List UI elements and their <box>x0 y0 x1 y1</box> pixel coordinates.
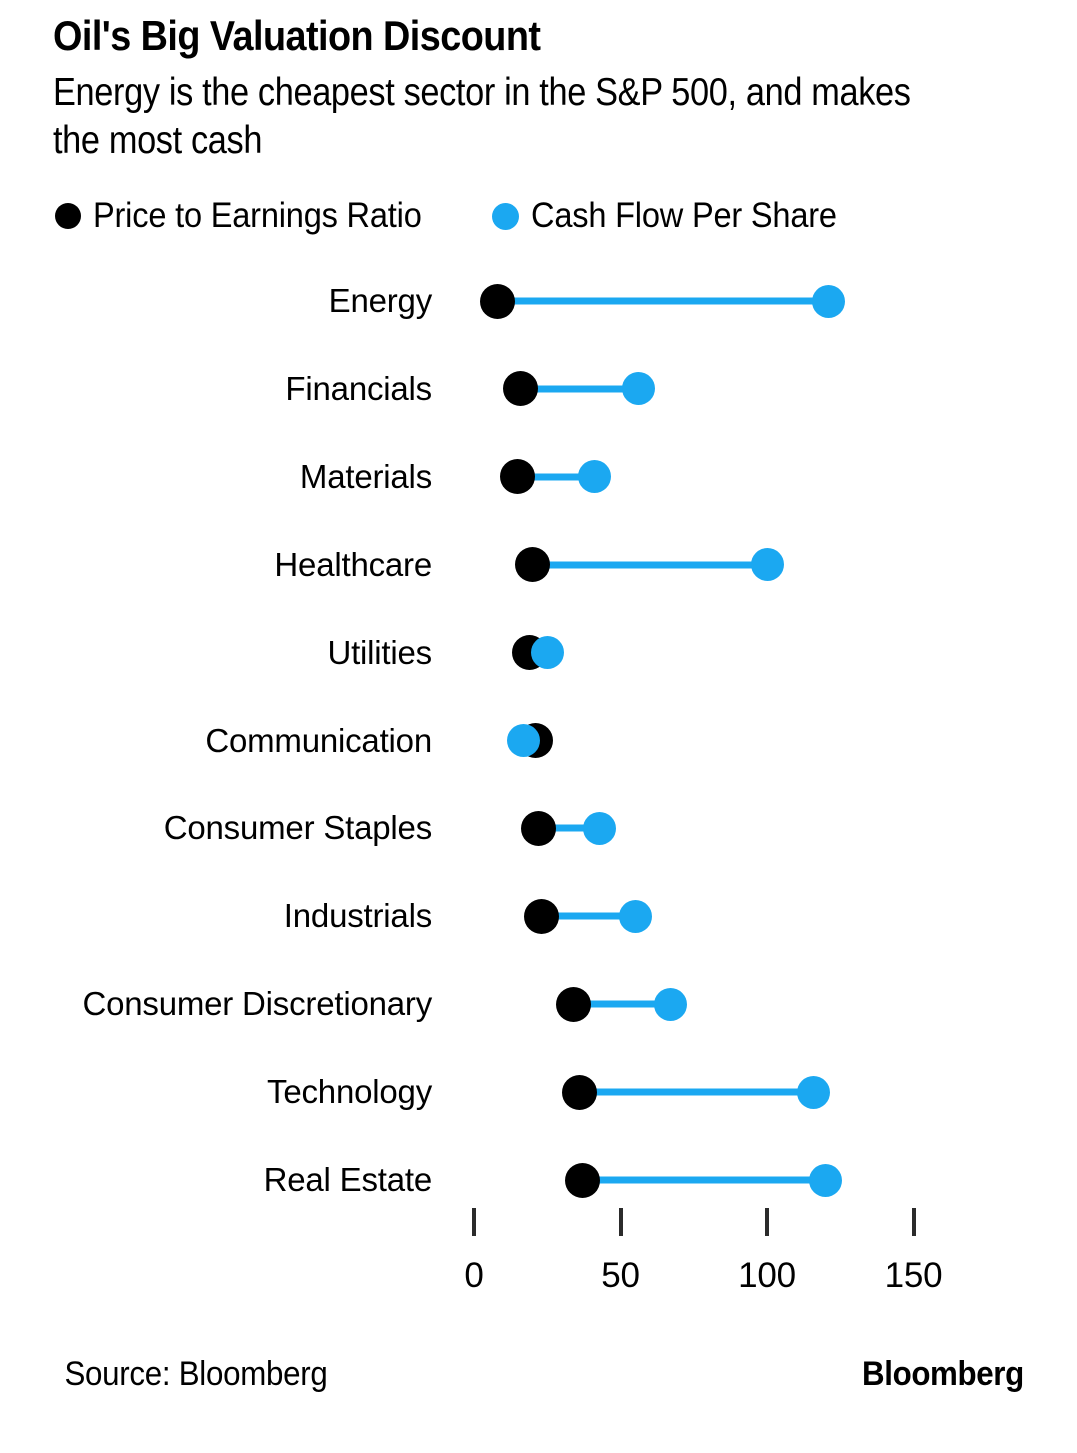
bloomberg-chart: Oil's Big Valuation Discount Energy is t… <box>0 0 1077 1453</box>
chart-row: Financials <box>0 367 1077 411</box>
chart-row: Energy <box>0 279 1077 323</box>
axis-tick <box>619 1208 623 1236</box>
chart-footer: Source: Bloomberg Bloomberg <box>53 1355 1031 1394</box>
pe-marker-dot[interactable] <box>565 1163 600 1198</box>
category-label: Consumer Staples <box>164 809 432 847</box>
axis-tick <box>912 1208 916 1236</box>
pe-marker-dot[interactable] <box>521 811 556 846</box>
axis-tick-label: 100 <box>738 1256 796 1296</box>
pe-marker-dot[interactable] <box>500 459 535 494</box>
category-label: Communication <box>205 722 432 760</box>
chart-row: Communication <box>0 719 1077 763</box>
chart-row: Consumer Staples <box>0 806 1077 850</box>
connector-line <box>533 561 767 568</box>
category-label: Materials <box>300 458 432 496</box>
pe-marker-dot[interactable] <box>556 987 591 1022</box>
pe-marker-dot[interactable] <box>524 899 559 934</box>
axis-tick-label: 0 <box>464 1256 483 1296</box>
cf-marker-dot[interactable] <box>622 372 655 405</box>
axis-tick <box>472 1208 476 1236</box>
chart-row: Materials <box>0 455 1077 499</box>
cf-marker-dot[interactable] <box>797 1076 830 1109</box>
cf-marker-dot[interactable] <box>578 460 611 493</box>
chart-row: Real Estate <box>0 1158 1077 1202</box>
connector-line <box>582 1177 825 1184</box>
connector-line <box>521 385 638 392</box>
category-label: Energy <box>329 282 432 320</box>
category-label: Financials <box>285 370 432 408</box>
category-label: Technology <box>267 1073 432 1111</box>
cf-marker-dot[interactable] <box>812 285 845 318</box>
cf-marker-dot[interactable] <box>619 900 652 933</box>
x-axis: 050100150 <box>0 1208 1077 1308</box>
chart-row: Industrials <box>0 894 1077 938</box>
chart-row: Healthcare <box>0 543 1077 587</box>
category-label: Consumer Discretionary <box>82 985 432 1023</box>
chart-row: Utilities <box>0 631 1077 675</box>
cf-marker-dot[interactable] <box>751 548 784 581</box>
category-label: Healthcare <box>274 546 432 584</box>
pe-marker-dot[interactable] <box>480 284 515 319</box>
category-label: Utilities <box>327 634 432 672</box>
chart-row: Consumer Discretionary <box>0 982 1077 1026</box>
axis-tick <box>765 1208 769 1236</box>
cf-marker-dot[interactable] <box>583 812 616 845</box>
axis-tick-label: 150 <box>885 1256 943 1296</box>
pe-marker-dot[interactable] <box>515 547 550 582</box>
category-label: Industrials <box>284 897 432 935</box>
chart-row: Technology <box>0 1070 1077 1114</box>
category-label: Real Estate <box>264 1161 432 1199</box>
pe-marker-dot[interactable] <box>503 371 538 406</box>
cf-marker-dot[interactable] <box>654 988 687 1021</box>
connector-line <box>579 1089 813 1096</box>
connector-line <box>497 298 828 305</box>
source-note: Source: Bloomberg <box>64 1355 327 1394</box>
axis-tick-label: 50 <box>601 1256 640 1296</box>
cf-marker-dot[interactable] <box>809 1164 842 1197</box>
cf-marker-dot[interactable] <box>531 636 564 669</box>
pe-marker-dot[interactable] <box>562 1075 597 1110</box>
bloomberg-logo: Bloomberg <box>862 1355 1024 1394</box>
